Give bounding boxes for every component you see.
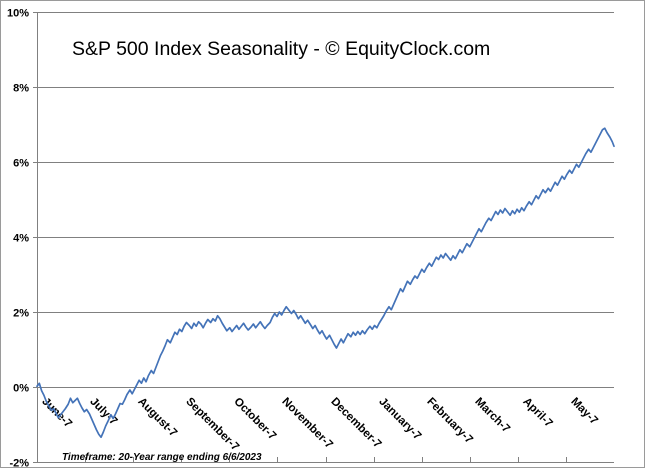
y-tick-label: 8% <box>13 83 29 95</box>
x-tick-label: May-7 <box>568 396 600 428</box>
x-tick-label: February-7 <box>424 396 475 447</box>
x-tick-label: January-7 <box>376 396 423 443</box>
x-axis-tick-labels: June-7July-7August-7September-7October-7… <box>39 396 600 454</box>
gridlines <box>33 13 614 463</box>
x-tick-label: December-7 <box>328 396 383 451</box>
x-tick-label: July-7 <box>87 396 119 428</box>
x-tick-label: October-7 <box>231 396 278 443</box>
y-tick-label: 10% <box>7 8 29 20</box>
seasonality-chart: 10%8%6%4%2%0%-2% June-7July-7August-7Sep… <box>0 0 645 468</box>
x-tick-label: August-7 <box>135 396 179 440</box>
y-tick-label: -2% <box>9 458 29 468</box>
x-tick-label: November-7 <box>279 396 334 451</box>
y-tick-label: 4% <box>13 233 29 245</box>
y-tick-label: 2% <box>13 308 29 320</box>
chart-title: S&P 500 Index Seasonality - © EquityCloc… <box>72 38 490 60</box>
timeframe-annotation: Timeframe: 20-Year range ending 6/6/2023 <box>62 452 262 463</box>
x-tick-label: March-7 <box>472 396 512 436</box>
y-tick-label: 0% <box>13 383 29 395</box>
x-tick-label: April-7 <box>520 396 554 430</box>
chart-canvas: 10%8%6%4%2%0%-2% June-7July-7August-7Sep… <box>1 1 645 468</box>
y-tick-label: 6% <box>13 158 29 170</box>
series-line-sp500-seasonality <box>37 128 614 437</box>
y-axis-tick-labels: 10%8%6%4%2%0%-2% <box>7 8 29 468</box>
